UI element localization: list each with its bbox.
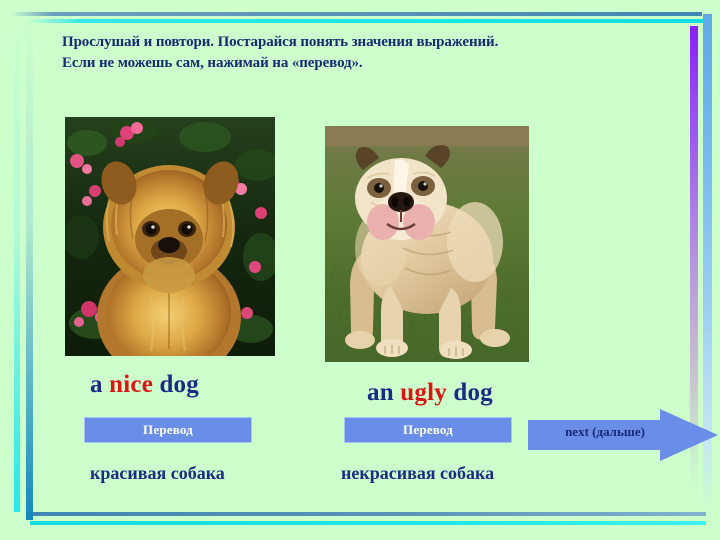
translate-button-ugly[interactable]: Перевод	[344, 417, 512, 443]
slide-canvas: Прослушай и повтори. Постарайся понять з…	[0, 0, 720, 540]
instruction-line-1: Прослушай и повтори. Постарайся понять з…	[62, 32, 662, 53]
english-bulldog-photo	[325, 126, 529, 362]
left-steel-bar	[26, 20, 33, 520]
phrase-ugly-dog: an ugly dog	[367, 379, 493, 407]
phrase-part: an	[367, 379, 400, 406]
fluffy-brussels-griffon-dog-photo	[65, 117, 275, 356]
phrase-part: dog	[447, 379, 493, 406]
translate-button-nice[interactable]: Перевод	[84, 417, 252, 443]
translation-ugly-dog: некрасивая собака	[341, 463, 494, 484]
phrase-highlight: nice	[109, 371, 153, 398]
bottom-steel-rule	[30, 512, 706, 516]
next-button[interactable]: next (дальше)	[528, 409, 718, 461]
top-cyan-rule	[26, 19, 706, 23]
phrase-nice-dog: a nice dog	[90, 371, 199, 399]
phrase-part: dog	[153, 371, 199, 398]
top-steel-rule	[10, 12, 702, 16]
translation-nice-dog: красивая собака	[90, 463, 225, 484]
left-cyan-bar	[14, 14, 20, 512]
instruction-text: Прослушай и повтори. Постарайся понять з…	[62, 32, 662, 75]
next-button-label: next (дальше)	[540, 424, 670, 440]
phrase-highlight: ugly	[400, 379, 447, 406]
instruction-line-2: Если не можешь сам, нажимай на «перевод»…	[62, 53, 662, 74]
bottom-cyan-rule	[30, 521, 706, 525]
phrase-part: a	[90, 371, 109, 398]
